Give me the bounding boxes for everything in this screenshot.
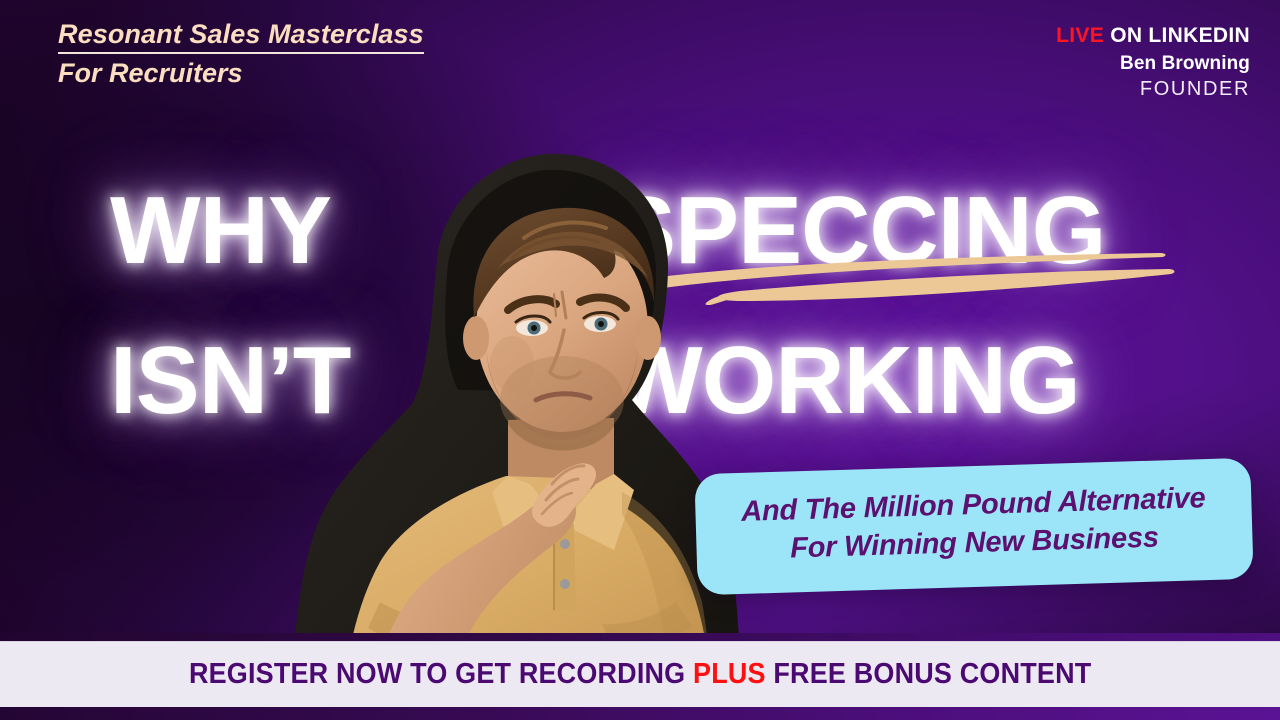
presenter-block: LIVE ON LINKEDIN Ben Browning FOUNDER [1056,24,1250,102]
live-badge: LIVE ON LINKEDIN [1056,24,1250,49]
presenter-name: Ben Browning [1056,53,1250,75]
presenter-photo [262,132,762,720]
masterclass-title-line2: For Recruiters [58,58,424,88]
banner-text-after: FREE BONUS CONTENT [766,658,1092,690]
live-word: LIVE [1056,24,1104,47]
banner-bottom-edge [0,707,1280,720]
banner-text-plus: PLUS [693,658,766,690]
presenter-role: FOUNDER [1056,78,1250,102]
platform-label: ON LINKEDIN [1110,24,1250,47]
registration-banner-text: REGISTER NOW TO GET RECORDING PLUS FREE … [189,658,1091,691]
banner-top-edge [0,633,1280,641]
banner-text-before: REGISTER NOW TO GET RECORDING [189,658,693,690]
masterclass-title: Resonant Sales Masterclass For Recruiter… [58,20,424,88]
registration-banner[interactable]: REGISTER NOW TO GET RECORDING PLUS FREE … [0,641,1280,707]
masterclass-title-line1: Resonant Sales Masterclass [58,20,424,54]
promo-banner: WHY ISN’T SPECCING WORKING [0,0,1280,720]
subheadline-callout: And The Million Pound Alternative For Wi… [694,458,1253,595]
